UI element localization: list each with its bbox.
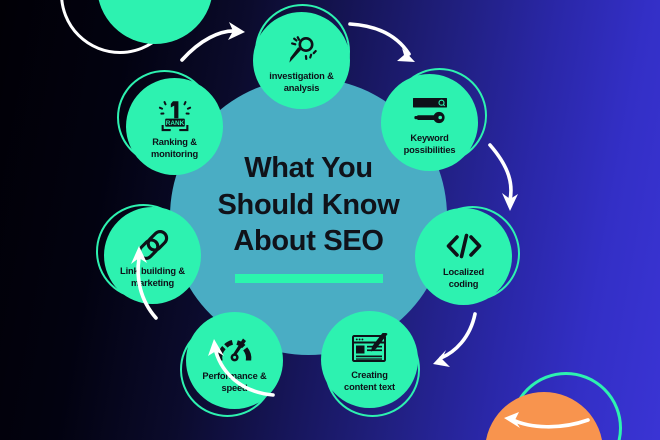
arrow-link-to-ranking bbox=[131, 246, 156, 318]
arrow-keyword-to-localized bbox=[490, 145, 518, 211]
infographic-canvas: What You Should Know About SEO bbox=[0, 0, 660, 440]
arrow-ranking-to-investigation bbox=[182, 22, 245, 60]
arrow-performance-to-link bbox=[208, 339, 273, 395]
arrow-content-to-performance bbox=[504, 412, 588, 428]
arrow-investigation-to-keyword bbox=[350, 24, 415, 62]
arrow-localized-to-content bbox=[433, 314, 475, 367]
flow-arrows-layer: .ar { fill:none; stroke:#ffffff; stroke-… bbox=[0, 0, 660, 440]
